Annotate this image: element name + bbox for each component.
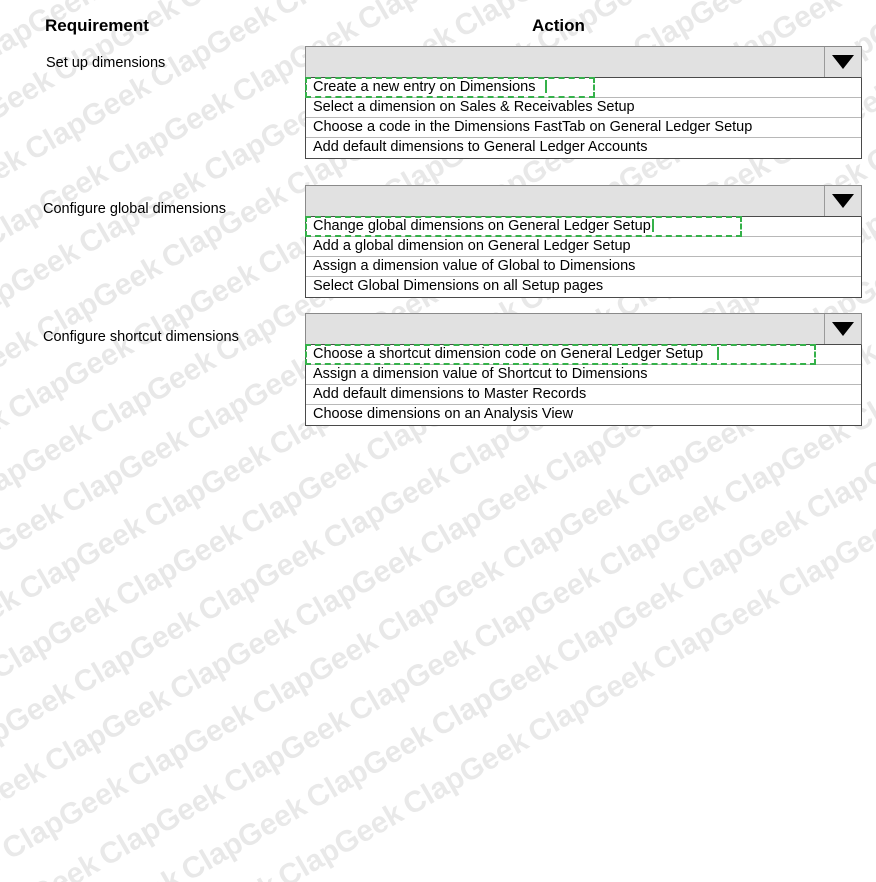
combo-arrow-button-2[interactable]: [824, 314, 861, 344]
option-label: Assign a dimension value of Global to Di…: [313, 258, 635, 274]
caret-down-icon: [832, 194, 854, 208]
option-label: Add default dimensions to General Ledger…: [313, 139, 648, 155]
option-label: Add default dimensions to Master Records: [313, 386, 586, 402]
text-caret-icon: [652, 219, 654, 232]
combo-selected-value-2[interactable]: [306, 314, 824, 344]
option-label: Create a new entry on Dimensions: [313, 79, 535, 95]
combo-box-1[interactable]: [305, 185, 862, 217]
option-label: Choose a code in the Dimensions FastTab …: [313, 119, 752, 135]
column-header-requirement: Requirement: [45, 16, 149, 36]
option-item[interactable]: Choose a shortcut dimension code on Gene…: [306, 345, 861, 365]
option-list-0[interactable]: Create a new entry on Dimensions Select …: [305, 78, 862, 159]
option-label: Select Global Dimensions on all Setup pa…: [313, 278, 603, 294]
question-content: Requirement Action Set up dimensions Con…: [0, 0, 876, 441]
option-item[interactable]: Create a new entry on Dimensions: [306, 78, 861, 98]
requirement-label-0: Set up dimensions: [46, 55, 165, 71]
option-item[interactable]: Change global dimensions on General Ledg…: [306, 217, 861, 237]
answer-dropdown-2[interactable]: Choose a shortcut dimension code on Gene…: [305, 313, 862, 426]
option-item[interactable]: Add default dimensions to General Ledger…: [306, 138, 861, 158]
option-label: Choose dimensions on an Analysis View: [313, 406, 573, 422]
option-item[interactable]: Assign a dimension value of Global to Di…: [306, 257, 861, 277]
text-caret-icon: [717, 347, 719, 360]
combo-selected-value-1[interactable]: [306, 186, 824, 216]
caret-down-icon: [832, 322, 854, 336]
combo-box-2[interactable]: [305, 313, 862, 345]
answer-dropdown-1[interactable]: Change global dimensions on General Ledg…: [305, 185, 862, 298]
option-item[interactable]: Select Global Dimensions on all Setup pa…: [306, 277, 861, 297]
option-label: Select a dimension on Sales & Receivable…: [313, 99, 635, 115]
option-item[interactable]: Add a global dimension on General Ledger…: [306, 237, 861, 257]
combo-arrow-button-1[interactable]: [824, 186, 861, 216]
option-label: Add a global dimension on General Ledger…: [313, 238, 631, 254]
answer-dropdown-0[interactable]: Create a new entry on Dimensions Select …: [305, 46, 862, 159]
option-item[interactable]: Select a dimension on Sales & Receivable…: [306, 98, 861, 118]
combo-arrow-button-0[interactable]: [824, 47, 861, 77]
option-label: Assign a dimension value of Shortcut to …: [313, 366, 647, 382]
option-item[interactable]: Choose a code in the Dimensions FastTab …: [306, 118, 861, 138]
option-label: Choose a shortcut dimension code on Gene…: [313, 346, 703, 362]
caret-down-icon: [832, 55, 854, 69]
option-item[interactable]: Assign a dimension value of Shortcut to …: [306, 365, 861, 385]
requirement-label-1: Configure global dimensions: [43, 201, 226, 217]
combo-box-0[interactable]: [305, 46, 862, 78]
requirement-label-2: Configure shortcut dimensions: [43, 329, 239, 345]
option-list-1[interactable]: Change global dimensions on General Ledg…: [305, 217, 862, 298]
option-item[interactable]: Choose dimensions on an Analysis View: [306, 405, 861, 425]
text-caret-icon: [545, 80, 547, 93]
option-label: Change global dimensions on General Ledg…: [313, 218, 651, 234]
option-list-2[interactable]: Choose a shortcut dimension code on Gene…: [305, 345, 862, 426]
option-item[interactable]: Add default dimensions to Master Records: [306, 385, 861, 405]
column-header-action: Action: [532, 16, 585, 36]
combo-selected-value-0[interactable]: [306, 47, 824, 77]
